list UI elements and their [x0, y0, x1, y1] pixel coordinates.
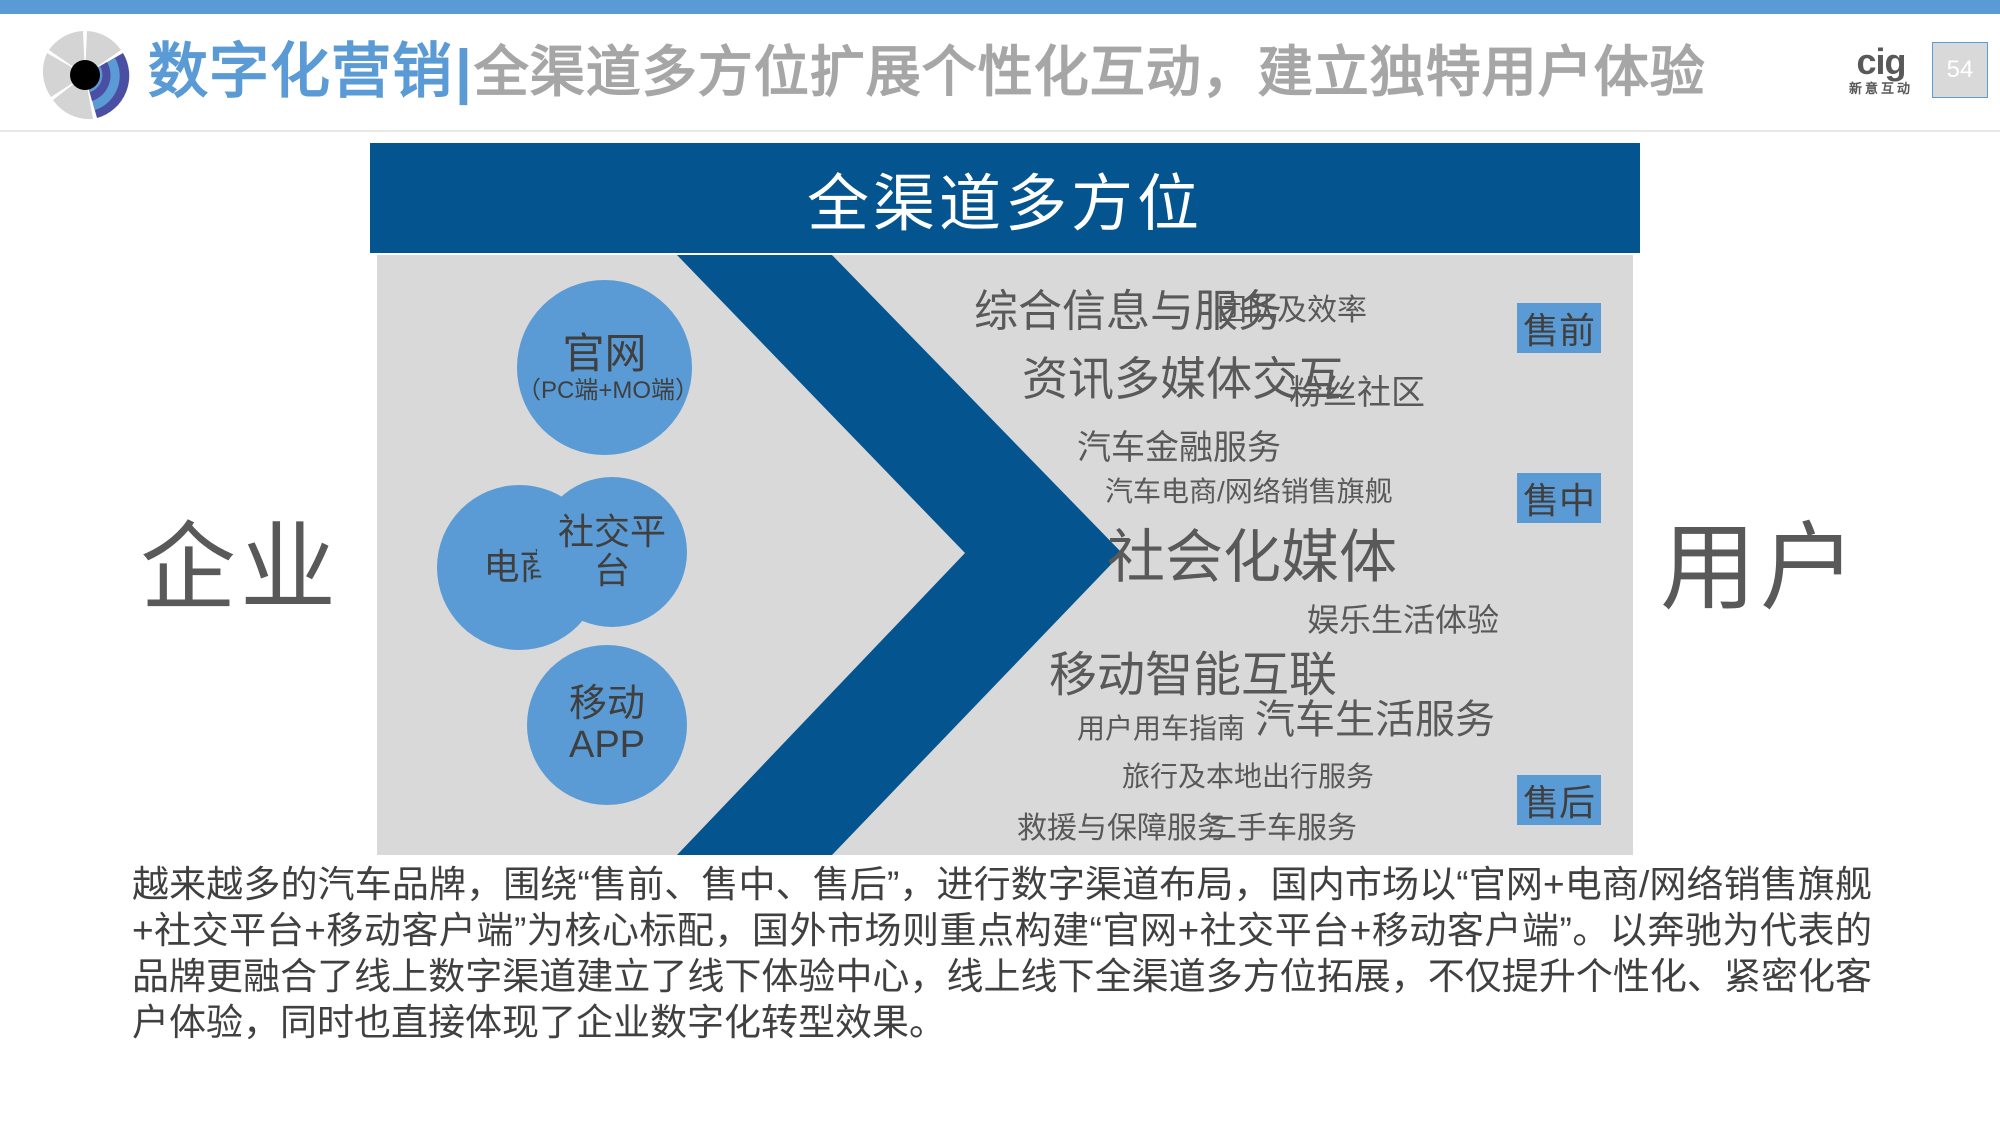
keyword-tuandui-xiaolv: 团队及效率: [1217, 285, 1367, 329]
keyword-lvxing-chuxing: 旅行及本地出行服务: [1122, 755, 1374, 795]
diagram-canvas: 官网 （PC端+MO端） 电商 社交平台 移动 APP 综合信息与服务 团队及效…: [377, 255, 1633, 855]
stage-badge-post[interactable]: 售后: [1517, 775, 1601, 825]
channel-circle-guanwang[interactable]: 官网 （PC端+MO端）: [517, 280, 692, 455]
channel-label-guanwang: 官网: [562, 331, 646, 376]
page-title: 数字化营销 | 全渠道多方位扩展个性化互动，建立独特用户体验: [148, 26, 1706, 118]
enterprise-label: 企业: [140, 490, 340, 629]
page-title-separator: |: [455, 42, 472, 102]
channel-label-app-line2: APP: [569, 725, 645, 766]
brand-logo: cig 新意互动: [1838, 44, 1924, 116]
page-number-badge: 54: [1932, 42, 1988, 98]
pie-flower-icon: [30, 28, 140, 123]
top-accent-bar: [0, 0, 2000, 14]
keyword-yonghu-yongche: 用户用车指南: [1077, 707, 1245, 747]
channel-label-app-line1: 移动: [569, 684, 645, 725]
summary-paragraph: 越来越多的汽车品牌，围绕“售前、售中、售后”，进行数字渠道布局，国内市场以“官网…: [132, 862, 1872, 1046]
brand-name-cn: 新意互动: [1838, 80, 1924, 98]
channel-circle-app[interactable]: 移动 APP: [527, 645, 687, 805]
omnichannel-diagram: 全渠道多方位 官网 （PC端+MO端） 电商 社交平台 移动 APP 综合信息与…: [370, 143, 1640, 855]
stage-badge-pre[interactable]: 售前: [1517, 303, 1601, 353]
keyword-shehuihua-meiti: 社会化媒体: [1107, 510, 1397, 594]
slide-header: 数字化营销 | 全渠道多方位扩展个性化互动，建立独特用户体验 cig 新意互动 …: [0, 14, 2000, 118]
channel-circle-shejiao[interactable]: 社交平台: [537, 477, 687, 627]
diagram-title-text: 全渠道多方位: [807, 153, 1203, 243]
brand-name: cig: [1838, 44, 1924, 80]
keyword-jiuyuan-baozhang: 救援与保障服务: [1017, 803, 1227, 847]
user-label: 用户: [1660, 490, 1860, 629]
diagram-title-bar: 全渠道多方位: [370, 143, 1640, 253]
stage-badge-mid[interactable]: 售中: [1517, 473, 1601, 523]
page-title-subtitle: 全渠道多方位扩展个性化互动，建立独特用户体验: [474, 45, 1706, 100]
keyword-fensi-shequ: 粉丝社区: [1289, 365, 1425, 414]
channel-sublabel-guanwang: （PC端+MO端）: [517, 378, 692, 404]
keyword-qiche-shenghuo: 汽车生活服务: [1255, 687, 1495, 745]
channel-label-shejiao: 社交平台: [553, 513, 671, 591]
keyword-ershouche-fuwu: 二手车服务: [1207, 803, 1357, 847]
page-title-highlight: 数字化营销: [148, 42, 453, 102]
keyword-qiche-jinrong: 汽车金融服务: [1077, 420, 1281, 469]
header-divider: [0, 130, 2000, 132]
keyword-qiche-dianshang: 汽车电商/网络销售旗舰: [1105, 470, 1393, 510]
